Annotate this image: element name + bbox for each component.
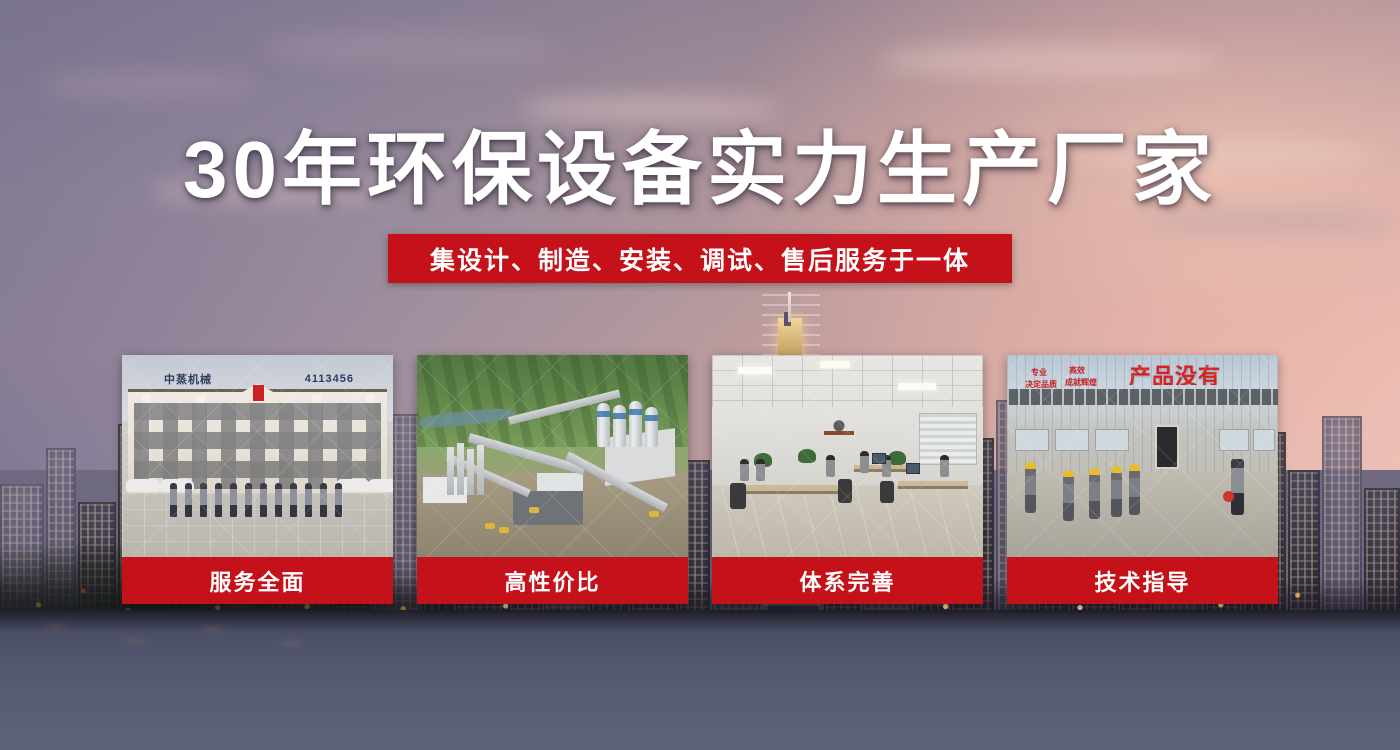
car — [368, 479, 393, 492]
worker — [1129, 469, 1140, 515]
building-sign-phone: 4113456 — [305, 373, 354, 385]
office-interior-staff-photo — [712, 355, 983, 557]
feature-card[interactable]: 产品没有 专业 高效 决定品质 成就辉煌 技术指导 — [1007, 355, 1278, 604]
factory-workers-training-photo: 产品没有 专业 高效 决定品质 成就辉煌 — [1007, 355, 1278, 557]
silo — [629, 401, 642, 447]
ceiling-light — [738, 367, 772, 374]
chimney — [477, 445, 484, 495]
plant-building — [513, 491, 583, 525]
car — [126, 479, 160, 492]
building-sign-name: 中蒸机械 — [164, 371, 212, 387]
factory-wall-slogan-small: 成就辉煌 — [1065, 379, 1097, 388]
window — [1055, 429, 1089, 451]
silo — [613, 405, 626, 447]
card-caption: 技术指导 — [1007, 557, 1278, 604]
staff-member — [940, 455, 949, 477]
feature-card-list: 中蒸机械 4113456 服务全面 — [122, 355, 1278, 604]
silo — [597, 403, 610, 447]
chimney — [447, 447, 454, 495]
chair — [730, 483, 746, 509]
subtitle-banner: 集设计、制造、安装、调试、售后服务于一体 — [388, 234, 1012, 283]
excavator — [499, 527, 509, 533]
window — [1095, 429, 1129, 451]
card-caption: 体系完善 — [712, 557, 983, 604]
building-signage: 中蒸机械 4113456 — [164, 371, 354, 387]
desk — [898, 481, 968, 489]
river — [0, 610, 1400, 750]
flag — [253, 385, 264, 401]
worker — [1089, 473, 1100, 519]
cloud — [520, 96, 780, 122]
factory-door — [1155, 425, 1179, 469]
page-title: 30年环保设备实力生产厂家 — [0, 128, 1400, 212]
river-reflections — [0, 614, 560, 674]
ceiling-light — [820, 361, 850, 368]
feature-card[interactable]: 中蒸机械 4113456 服务全面 — [122, 355, 393, 604]
factory-wall-slogan-small: 专业 — [1031, 369, 1047, 378]
potted-plant — [798, 449, 816, 463]
card-caption: 高性价比 — [417, 557, 688, 604]
company-headquarters-building-photo: 中蒸机械 4113456 — [122, 355, 393, 557]
plant-building — [537, 473, 583, 491]
red-helmet — [1223, 491, 1234, 502]
aerial-industrial-plant-photo — [417, 355, 688, 557]
excavator — [529, 507, 539, 513]
subtitle-text: 集设计、制造、安装、调试、售后服务于一体 — [430, 241, 970, 277]
desk — [746, 485, 842, 494]
chair — [838, 479, 852, 503]
window — [1015, 429, 1049, 451]
excavator — [649, 511, 659, 517]
window — [1219, 429, 1249, 451]
factory-wall-slogan-small: 高效 — [1069, 367, 1085, 376]
factory-wall-slogan: 产品没有 — [1129, 359, 1275, 385]
feature-card[interactable]: 高性价比 — [417, 355, 688, 604]
worker — [1111, 471, 1122, 517]
cloud — [880, 44, 1220, 78]
cloud — [40, 70, 260, 100]
worker — [1025, 467, 1036, 513]
staff-member — [860, 451, 869, 473]
chair — [880, 481, 894, 503]
wall-emblem — [820, 413, 858, 445]
staff-member — [756, 459, 765, 481]
staff-member — [740, 459, 749, 481]
window — [1253, 429, 1275, 451]
excavator — [485, 523, 495, 529]
chimney — [457, 443, 464, 495]
feature-card[interactable]: 体系完善 — [712, 355, 983, 604]
chimney — [467, 449, 474, 495]
ceiling-light — [898, 383, 936, 390]
monitor — [906, 463, 920, 474]
supervisor — [1231, 459, 1244, 515]
monitor — [872, 453, 886, 464]
silo — [645, 407, 658, 447]
cloud — [260, 30, 560, 66]
staff-member — [826, 455, 835, 477]
card-caption: 服务全面 — [122, 557, 393, 604]
worker — [1063, 475, 1074, 521]
